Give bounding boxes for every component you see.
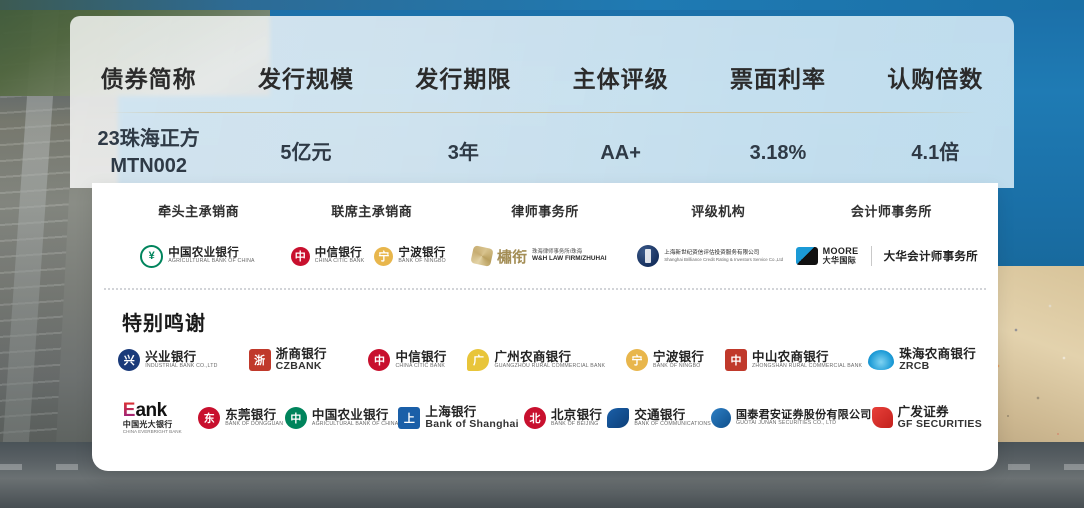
cell-issue-scale: 5亿元 xyxy=(227,140,384,167)
logo-wh-law-firm: 橚衔 珠海律师事务所/珠海 W&H LAW FIRM/ZHUHAI xyxy=(472,246,607,267)
zrcb-logo-icon xyxy=(868,350,894,370)
logo-slot: 中中山农商银行ZHONGSHAN RURAL COMMERCIAL BANK xyxy=(725,349,862,371)
logo-logo-icon: 宁 xyxy=(626,349,648,371)
logo-name-cn: 中信银行 xyxy=(395,351,446,364)
cell-subscription-multiple: 4.1倍 xyxy=(857,140,1014,167)
ningbo-logo-icon: 宁 xyxy=(374,247,393,266)
section-separator xyxy=(104,288,986,290)
brand-initial: E xyxy=(123,401,136,421)
special-thanks-title: 特别鸣谢 xyxy=(122,307,206,336)
logo-logo-icon: 兴 xyxy=(118,349,140,371)
role-col-accounting-firm: 会计师事务所 xyxy=(805,201,978,220)
moore-logo-icon xyxy=(796,247,818,265)
column-header-issue-term: 发行期限 xyxy=(385,60,542,94)
bond-table-row: 23珠海正方 MTN002 5亿元 3年 AA+ 3.18% 4.1倍 xyxy=(70,126,1014,180)
logo-slot: 国泰君安证券股份有限公司GUOTAI JUNAN SECURITIES CO.,… xyxy=(711,408,872,428)
column-header-issue-scale: 发行规模 xyxy=(227,60,384,94)
law-firm-sub-en: W&H LAW FIRM/ZHUHAI xyxy=(532,255,607,262)
bocom-logo-icon xyxy=(607,408,629,428)
logo-slot: 交通银行BANK OF COMMUNICATIONS xyxy=(607,408,711,428)
logo-slot: 珠海农商银行ZRCB xyxy=(862,348,982,372)
logo-bank-of-ningbo: 宁宁波银行BANK OF NINGBO xyxy=(626,349,704,371)
logo-name-cn: 宁波银行 xyxy=(653,351,704,364)
logo-logo-icon: 中 xyxy=(725,349,747,371)
logo-name-en: BANK OF BEIJING xyxy=(551,422,602,427)
cell-coupon-rate: 3.18% xyxy=(699,140,856,167)
logo-name-en: INDUSTRIAL BANK CO.,LTD xyxy=(145,364,217,369)
logo-moore-dahua: MOORE 大华国际 大华会计师事务所 xyxy=(796,246,978,266)
logo-bank-of-shanghai: 上上海银行Bank of Shanghai xyxy=(398,406,518,430)
role-logo-row: ¥ 中国农业银行 AGRICULTURAL BANK OF CHINA 中 中信… xyxy=(112,235,978,277)
citic-logo-icon: 中 xyxy=(291,247,310,266)
logo-name-en: GUANGZHOU RURAL COMMERCIAL BANK xyxy=(494,364,605,369)
screenshot-root: 债券简称 发行规模 发行期限 主体评级 票面利率 认购倍数 23珠海正方 MTN… xyxy=(0,0,1084,508)
logo-agricultural-bank-of-china: ¥ 中国农业银行 AGRICULTURAL BANK OF CHINA xyxy=(140,245,254,268)
accounting-firm-name-cn: 大华会计师事务所 xyxy=(884,248,978,264)
logo-logo-icon: 北 xyxy=(524,407,546,429)
rating-agency-name-en: Shanghai Brilliance Credit Rating & Inve… xyxy=(664,257,783,263)
logo-china-citic-bank: 中 中信银行 CHINA CITIC BANK xyxy=(291,247,365,266)
role-col-rating-agency: 评级机构 xyxy=(632,201,805,220)
logo-name-en: GUOTAI JUNAN SECURITIES CO., LTD xyxy=(736,421,872,426)
logo-logo-icon: 上 xyxy=(398,407,420,429)
cell-bond-name: 23珠海正方 MTN002 xyxy=(70,126,227,180)
role-logos-rating-agency: 上海新世纪资信评估投资服务有限公司 Shanghai Brilliance Cr… xyxy=(625,235,796,277)
logo-name-cn: 中山农商银行 xyxy=(752,351,862,364)
cell-issuer-rating: AA+ xyxy=(542,140,699,167)
law-firm-logo-icon xyxy=(470,245,493,267)
logo-guangzhou-rural-commercial-bank: 广广州农商银行GUANGZHOU RURAL COMMERCIAL BANK xyxy=(467,349,605,371)
logo-divider xyxy=(871,246,872,266)
logo-gf-securities: 广发证券GF SECURITIES xyxy=(872,406,982,430)
bond-info-panel: 债券简称 发行规模 发行期限 主体评级 票面利率 认购倍数 23珠海正方 MTN… xyxy=(70,16,1014,188)
brand-word: ank xyxy=(135,401,166,421)
logo-zhongshan-rural-commercial-bank: 中中山农商银行ZHONGSHAN RURAL COMMERCIAL BANK xyxy=(725,349,862,371)
logo-bank-of-communications: 交通银行BANK OF COMMUNICATIONS xyxy=(607,408,711,428)
logo-name-en: CHINA CITIC BANK xyxy=(315,259,365,264)
role-col-joint-underwriter: 联席主承销商 xyxy=(285,201,458,220)
logo-logo-icon: 中 xyxy=(285,407,307,429)
logo-slot: 广发证券GF SECURITIES xyxy=(872,406,982,430)
logo-name-cn: 广州农商银行 xyxy=(494,351,605,364)
law-firm-name-cn: 橚衔 xyxy=(497,246,527,267)
logo-name-en: CHINA EVERBRIGHT BANK xyxy=(123,430,182,435)
rating-agency-logo-icon xyxy=(637,245,659,267)
column-header-issuer-rating: 主体评级 xyxy=(542,60,699,94)
bond-name-line1: 23珠海正方 xyxy=(70,126,227,153)
role-logos-law-firm: 橚衔 珠海律师事务所/珠海 W&H LAW FIRM/ZHUHAI xyxy=(454,235,625,277)
logo-agricultural-bank-of-china: 中中国农业银行AGRICULTURAL BANK OF CHINA xyxy=(285,407,398,429)
logo-china-citic-bank: 中中信银行CHINA CITIC BANK xyxy=(368,349,446,371)
logo-name-en: ZRCB xyxy=(899,361,976,372)
logo-guotai-junan-securities-co-ltd: 国泰君安证券股份有限公司GUOTAI JUNAN SECURITIES CO.,… xyxy=(711,408,872,428)
logo-slot: 广广州农商银行GUANGZHOU RURAL COMMERCIAL BANK xyxy=(467,349,605,371)
logo-name-en: BANK OF COMMUNICATIONS xyxy=(634,422,711,427)
logo-slot: 上上海银行Bank of Shanghai xyxy=(398,406,518,430)
role-label: 评级机构 xyxy=(632,201,805,220)
logo-slot: Eank中国光大银行CHINA EVERBRIGHT BANK xyxy=(108,401,196,434)
everbright-logo-icon: Eank中国光大银行CHINA EVERBRIGHT BANK xyxy=(123,401,182,434)
gtja-logo-icon xyxy=(711,408,731,428)
thanks-logo-row-2: Eank中国光大银行CHINA EVERBRIGHT BANK东东莞银行BANK… xyxy=(108,395,982,441)
cell-issue-term: 3年 xyxy=(385,140,542,167)
logo-name-en: BANK OF DONGGUAN xyxy=(225,422,283,427)
bond-table-header: 债券简称 发行规模 发行期限 主体评级 票面利率 认购倍数 xyxy=(70,60,1014,94)
role-label: 联席主承销商 xyxy=(285,201,458,220)
logo-name-cn: 交通银行 xyxy=(634,409,711,422)
column-header-bond-name: 债券简称 xyxy=(70,60,227,94)
logo-shanghai-brilliance-rating: 上海新世纪资信评估投资服务有限公司 Shanghai Brilliance Cr… xyxy=(637,245,783,267)
logo-bank-of-dongguan: 东东莞银行BANK OF DONGGUAN xyxy=(198,407,283,429)
logo-slot: 东东莞银行BANK OF DONGGUAN xyxy=(196,407,284,429)
header-divider xyxy=(106,112,978,113)
logo-zrcb: 珠海农商银行ZRCB xyxy=(868,348,976,372)
logo-logo-icon: 中 xyxy=(368,349,390,371)
logo-name-en: AGRICULTURAL BANK OF CHINA xyxy=(168,259,254,264)
logo-czbank: 浙浙商银行CZBANK xyxy=(249,348,327,372)
role-label: 牵头主承销商 xyxy=(112,201,285,220)
partners-card: 牵头主承销商 联席主承销商 律师事务所 评级机构 会计师事务所 ¥ 中国农 xyxy=(92,183,998,471)
logo-name-cn: 北京银行 xyxy=(551,409,602,422)
abc-logo-icon: ¥ xyxy=(140,245,163,268)
logo-name-en: Bank of Shanghai xyxy=(425,419,518,430)
logo-slot: 宁宁波银行BANK OF NINGBO xyxy=(605,349,725,371)
column-header-coupon-rate: 票面利率 xyxy=(699,60,856,94)
logo-name-en: AGRICULTURAL BANK OF CHINA xyxy=(312,422,398,427)
moore-name-cn: 大华国际 xyxy=(823,257,859,266)
role-label: 律师事务所 xyxy=(458,201,631,220)
logo-name-en: BANK OF NINGBO xyxy=(398,259,445,264)
logo-slot: 浙浙商银行CZBANK xyxy=(228,348,348,372)
logo-bank-of-beijing: 北北京银行BANK OF BEIJING xyxy=(524,407,602,429)
role-label-row: 牵头主承销商 联席主承销商 律师事务所 评级机构 会计师事务所 xyxy=(112,201,978,220)
background-top-edge xyxy=(0,0,1084,10)
logo-bank-of-ningbo: 宁 宁波银行 BANK OF NINGBO xyxy=(374,247,445,266)
logo-industrial-bank-co-ltd: 兴兴业银行INDUSTRIAL BANK CO.,LTD xyxy=(118,349,217,371)
thanks-logo-row-1: 兴兴业银行INDUSTRIAL BANK CO.,LTD浙浙商银行CZBANK中… xyxy=(108,338,982,382)
logo-logo-icon: 广 xyxy=(467,349,489,371)
logo-slot: 中中国农业银行AGRICULTURAL BANK OF CHINA xyxy=(285,407,398,429)
logo-name-cn: 东莞银行 xyxy=(225,409,283,422)
logo-china-everbright-bank: Eank中国光大银行CHINA EVERBRIGHT BANK xyxy=(123,401,182,434)
gf-securities-logo-icon xyxy=(872,407,893,428)
logo-logo-icon: 浙 xyxy=(249,349,271,371)
logo-name-en: ZHONGSHAN RURAL COMMERCIAL BANK xyxy=(752,364,862,369)
logo-name-en: GF SECURITIES xyxy=(898,419,982,430)
role-col-law-firm: 律师事务所 xyxy=(458,201,631,220)
logo-logo-icon: 东 xyxy=(198,407,220,429)
role-col-lead-underwriter: 牵头主承销商 xyxy=(112,201,285,220)
logo-name-en: CHINA CITIC BANK xyxy=(395,364,446,369)
role-logos-joint-underwriter: 中 中信银行 CHINA CITIC BANK 宁 宁波银行 BANK OF N… xyxy=(283,235,454,277)
logo-slot: 北北京银行BANK OF BEIJING xyxy=(519,407,607,429)
role-label: 会计师事务所 xyxy=(805,201,978,220)
logo-name-cn: 兴业银行 xyxy=(145,351,217,364)
logo-name-en: CZBANK xyxy=(276,361,327,372)
logo-slot: 兴兴业银行INDUSTRIAL BANK CO.,LTD xyxy=(108,349,228,371)
logo-slot: 中中信银行CHINA CITIC BANK xyxy=(348,349,468,371)
rating-agency-name-cn: 上海新世纪资信评估投资服务有限公司 xyxy=(664,250,783,257)
column-header-subscription-multiple: 认购倍数 xyxy=(857,60,1014,94)
logo-name-en: BANK OF NINGBO xyxy=(653,364,704,369)
role-logos-lead-underwriter: ¥ 中国农业银行 AGRICULTURAL BANK OF CHINA xyxy=(112,235,283,277)
role-logos-accounting-firm: MOORE 大华国际 大华会计师事务所 xyxy=(796,235,978,277)
bond-name-line2: MTN002 xyxy=(70,153,227,180)
logo-name-cn: 中国农业银行 xyxy=(312,409,398,422)
